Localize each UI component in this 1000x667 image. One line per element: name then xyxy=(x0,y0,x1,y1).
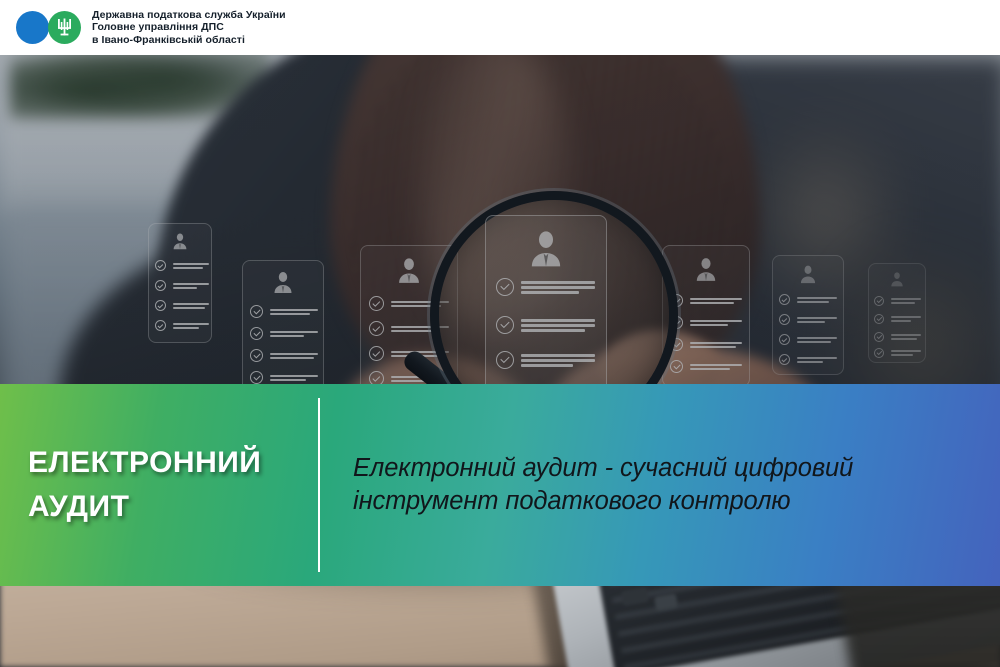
holo-text-lines xyxy=(690,320,742,326)
check-circle-icon xyxy=(496,316,514,334)
holo-text-lines xyxy=(521,319,595,332)
check-circle-icon xyxy=(779,354,790,365)
check-circle-icon xyxy=(874,332,884,342)
holo-card-row xyxy=(155,280,209,291)
banner-headline-line-1: ЕЛЕКТРОННИЙ xyxy=(28,441,300,485)
poster-page: Державна податкова служба України Головн… xyxy=(0,0,1000,667)
holo-text-lines xyxy=(173,303,209,309)
holo-text-lines xyxy=(891,316,921,322)
logo-blue-circle xyxy=(16,11,49,44)
holo-text-lines xyxy=(891,334,921,340)
holo-card-row xyxy=(496,278,595,296)
holo-card-row xyxy=(779,354,837,365)
check-circle-icon xyxy=(874,314,884,324)
check-circle-icon xyxy=(155,300,166,311)
person-avatar-icon xyxy=(889,271,905,287)
check-circle-icon xyxy=(496,278,514,296)
holo-card-row xyxy=(779,294,837,305)
holo-card-row xyxy=(496,351,595,369)
check-circle-icon xyxy=(155,280,166,291)
holo-card-row xyxy=(250,371,318,384)
holo-card-5 xyxy=(772,255,844,375)
holo-card-row xyxy=(670,360,742,373)
holo-text-lines xyxy=(690,342,742,348)
check-circle-icon xyxy=(250,305,263,318)
holo-text-lines xyxy=(173,323,209,329)
check-circle-icon xyxy=(779,314,790,325)
holo-card-2 xyxy=(242,260,324,392)
check-circle-icon xyxy=(250,349,263,362)
check-circle-icon xyxy=(155,260,166,271)
check-circle-icon xyxy=(496,351,514,369)
holo-text-lines xyxy=(797,317,837,323)
person-avatar-icon xyxy=(798,264,818,284)
check-circle-icon xyxy=(369,321,384,336)
holo-card-row xyxy=(670,338,742,351)
header-line-2: Головне управління ДПС xyxy=(92,21,286,34)
holo-card-1 xyxy=(148,223,212,343)
holo-text-lines xyxy=(270,331,318,337)
banner-headline: ЕЛЕКТРОННИЙ АУДИТ xyxy=(0,441,300,529)
check-circle-icon xyxy=(779,294,790,305)
ukrainian-trident-icon xyxy=(48,11,81,44)
holo-card-row xyxy=(874,314,921,324)
check-circle-icon xyxy=(670,360,683,373)
check-circle-icon xyxy=(874,348,884,358)
holo-card-row xyxy=(874,296,921,306)
holo-text-lines xyxy=(521,281,595,294)
holo-text-lines xyxy=(891,350,921,356)
site-header: Державна податкова служба України Головн… xyxy=(0,0,1000,55)
person-avatar-icon xyxy=(171,232,189,250)
holo-text-lines xyxy=(690,298,742,304)
holo-text-lines xyxy=(797,337,837,343)
holo-text-lines xyxy=(797,297,837,303)
check-circle-icon xyxy=(155,320,166,331)
holo-card-focused xyxy=(485,215,607,412)
holo-card-row xyxy=(250,305,318,318)
banner-subtitle: Електронний аудит - сучасний цифровий ін… xyxy=(320,452,1000,518)
check-circle-icon xyxy=(250,327,263,340)
holo-card-row xyxy=(670,294,742,307)
holo-card-row xyxy=(670,316,742,329)
holo-text-lines xyxy=(270,353,318,359)
holo-card-row xyxy=(155,300,209,311)
holo-text-lines xyxy=(270,309,318,315)
person-avatar-icon xyxy=(526,228,566,268)
dps-logo[interactable] xyxy=(16,11,82,45)
holo-card-6 xyxy=(868,263,926,363)
header-title-block: Державна податкова служба України Головн… xyxy=(92,9,286,47)
title-banner: ЕЛЕКТРОННИЙ АУДИТ Електронний аудит - су… xyxy=(0,384,1000,586)
check-circle-icon xyxy=(250,371,263,384)
holo-card-row xyxy=(250,327,318,340)
person-avatar-icon xyxy=(693,256,719,282)
header-line-3: в Івано-Франківській області xyxy=(92,34,286,47)
holo-text-lines xyxy=(891,298,921,304)
check-circle-icon xyxy=(369,346,384,361)
holo-card-row xyxy=(155,260,209,271)
holo-card-row xyxy=(496,316,595,334)
header-line-1: Державна податкова служба України xyxy=(92,9,286,22)
holo-card-row xyxy=(779,334,837,345)
holo-text-lines xyxy=(521,354,595,367)
person-avatar-icon xyxy=(271,270,295,294)
check-circle-icon xyxy=(369,296,384,311)
holo-card-row xyxy=(779,314,837,325)
holo-text-lines xyxy=(173,263,209,269)
holo-card-row xyxy=(155,320,209,331)
holo-text-lines xyxy=(797,357,837,363)
holo-text-lines xyxy=(270,375,318,381)
holo-text-lines xyxy=(173,283,209,289)
holo-text-lines xyxy=(690,364,742,370)
check-circle-icon xyxy=(874,296,884,306)
check-circle-icon xyxy=(779,334,790,345)
holo-card-row xyxy=(874,332,921,342)
person-avatar-icon xyxy=(395,256,423,284)
holo-card-row xyxy=(250,349,318,362)
banner-headline-line-2: АУДИТ xyxy=(28,485,300,529)
holo-card-row xyxy=(874,348,921,358)
